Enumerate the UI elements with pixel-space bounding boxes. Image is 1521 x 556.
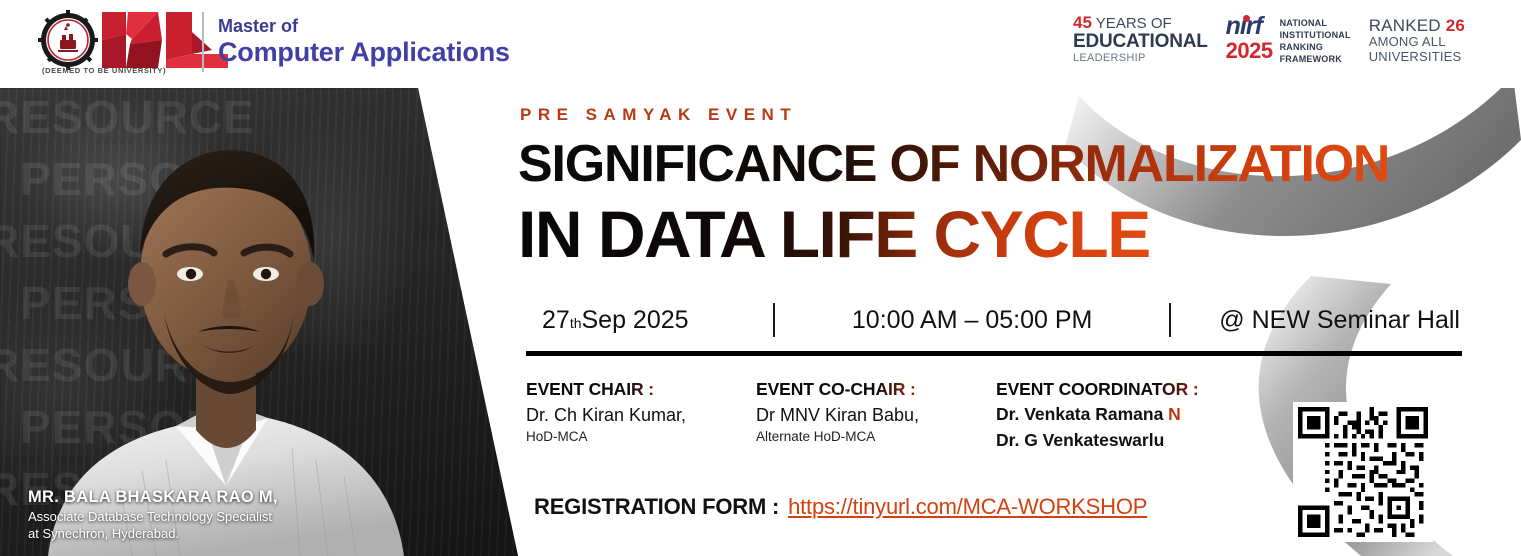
speaker-info: MR. BALA BHASKARA RAO M, Associate Datab…	[28, 487, 278, 542]
date-time-venue-row: 27th Sep 2025 10:00 AM – 05:00 PM @ NEW …	[524, 296, 1464, 344]
badge-45-line1-rest: YEARS OF	[1092, 15, 1172, 32]
nirf-dot-icon	[1243, 15, 1250, 22]
accreditation-badges: 45 YEARS OF EDUCATIONAL LEADERSHIP nirf …	[1073, 14, 1465, 66]
event-date-rest: Sep 2025	[582, 306, 689, 335]
event-date-ordinal: th	[570, 315, 582, 331]
event-banner: (DEEMED TO BE UNIVERSITY) Master of Comp…	[0, 0, 1521, 556]
ranking-badge: RANKED 26 AMONG ALL UNIVERSITIES	[1369, 14, 1465, 64]
ranked-label: RANKED	[1369, 16, 1446, 35]
speaker-role-line2: at Synechron, Hyderabad.	[28, 525, 278, 542]
nirf-badge: nirf 2025 NATIONAL INSTITUTIONAL RANKING…	[1226, 14, 1351, 66]
department-line2: Computer Applications	[218, 37, 510, 68]
header-divider	[202, 12, 204, 72]
event-cochair-sub: Alternate HoD-MCA	[756, 428, 996, 446]
event-cochair-name: Dr MNV Kiran Babu,	[756, 402, 996, 428]
ranked-number: 26	[1446, 16, 1465, 35]
badge-45-line2: EDUCATIONAL	[1073, 32, 1208, 53]
nirf-wordmark: nirf	[1226, 14, 1273, 39]
event-title-line2: IN DATA LIFE CYCLE	[518, 196, 1150, 272]
nirf-fullname: NATIONAL INSTITUTIONAL RANKING FRAMEWORK	[1280, 14, 1351, 66]
speaker-portrait	[0, 88, 560, 556]
event-time: 10:00 AM – 05:00 PM	[775, 306, 1169, 335]
deemed-university-text: (DEEMED TO BE UNIVERSITY)	[42, 66, 166, 75]
event-cochair-heading: EVENT CO-CHAIR :	[756, 376, 996, 402]
nirf-line4: FRAMEWORK	[1280, 54, 1351, 66]
coordinator-name1-main: Dr. Venkata Ramana	[996, 404, 1168, 424]
horizontal-rule	[526, 351, 1462, 356]
speaker-name: MR. BALA BHASKARA RAO M,	[28, 487, 278, 508]
kl-wordmark	[100, 10, 232, 70]
registration-label: REGISTRATION FORM :	[534, 494, 779, 520]
department-title: Master of Computer Applications	[218, 16, 510, 68]
badge-45-years: 45 YEARS OF EDUCATIONAL LEADERSHIP	[1073, 14, 1208, 65]
event-content: PRE SAMYAK EVENT SIGNIFICANCE OF NORMALI…	[520, 88, 1521, 556]
department-line1: Master of	[218, 16, 510, 37]
event-chair-column: EVENT CHAIR : Dr. Ch Kiran Kumar, HoD-MC…	[526, 376, 756, 447]
event-date-day: 27	[542, 306, 570, 335]
registration-qr-code[interactable]	[1293, 402, 1433, 542]
ranked-line2: AMONG ALL	[1369, 35, 1465, 50]
nirf-line1: NATIONAL	[1280, 18, 1351, 30]
event-venue: @ NEW Seminar Hall	[1171, 306, 1464, 335]
nirf-year: 2025	[1226, 40, 1273, 62]
event-coordinator-heading: EVENT COORDINATOR :	[996, 376, 1296, 402]
event-coordinator-name2: Dr. G Venkateswarlu	[996, 428, 1296, 453]
coordinator-name1-accent: N	[1168, 404, 1181, 424]
speaker-role-line1: Associate Database Technology Specialist	[28, 508, 278, 525]
nirf-logo: nirf 2025	[1226, 14, 1273, 62]
badge-45-number: 45	[1073, 13, 1092, 32]
event-title-line1: SIGNIFICANCE OF NORMALIZATION	[518, 134, 1389, 194]
event-coordinator-column: EVENT COORDINATOR : Dr. Venkata Ramana N…	[996, 376, 1296, 453]
event-chair-heading: EVENT CHAIR :	[526, 376, 756, 402]
event-chair-sub: HoD-MCA	[526, 428, 756, 446]
banner-header: (DEEMED TO BE UNIVERSITY) Master of Comp…	[0, 0, 1521, 88]
nirf-line2: INSTITUTIONAL	[1280, 30, 1351, 42]
registration-link[interactable]: https://tinyurl.com/MCA-WORKSHOP	[788, 494, 1147, 520]
ranked-line1: RANKED 26	[1369, 16, 1465, 35]
event-kicker: PRE SAMYAK EVENT	[520, 105, 797, 125]
event-cochair-column: EVENT CO-CHAIR : Dr MNV Kiran Babu, Alte…	[756, 376, 996, 447]
speaker-photo-panel: RESOURCE PERSON RESOURCE PERSON RESOURCE…	[0, 88, 560, 556]
event-date: 27th Sep 2025	[524, 306, 773, 335]
event-coordinator-name1: Dr. Venkata Ramana N	[996, 402, 1296, 427]
registration-row: REGISTRATION FORM : https://tinyurl.com/…	[534, 494, 1147, 520]
nirf-line3: RANKING	[1280, 42, 1351, 54]
badge-45-line3: LEADERSHIP	[1073, 53, 1208, 65]
badge-45-line1: 45 YEARS OF	[1073, 14, 1208, 32]
ranked-line3: UNIVERSITIES	[1369, 50, 1465, 65]
event-chair-name: Dr. Ch Kiran Kumar,	[526, 402, 756, 428]
university-emblem-icon	[38, 10, 98, 70]
